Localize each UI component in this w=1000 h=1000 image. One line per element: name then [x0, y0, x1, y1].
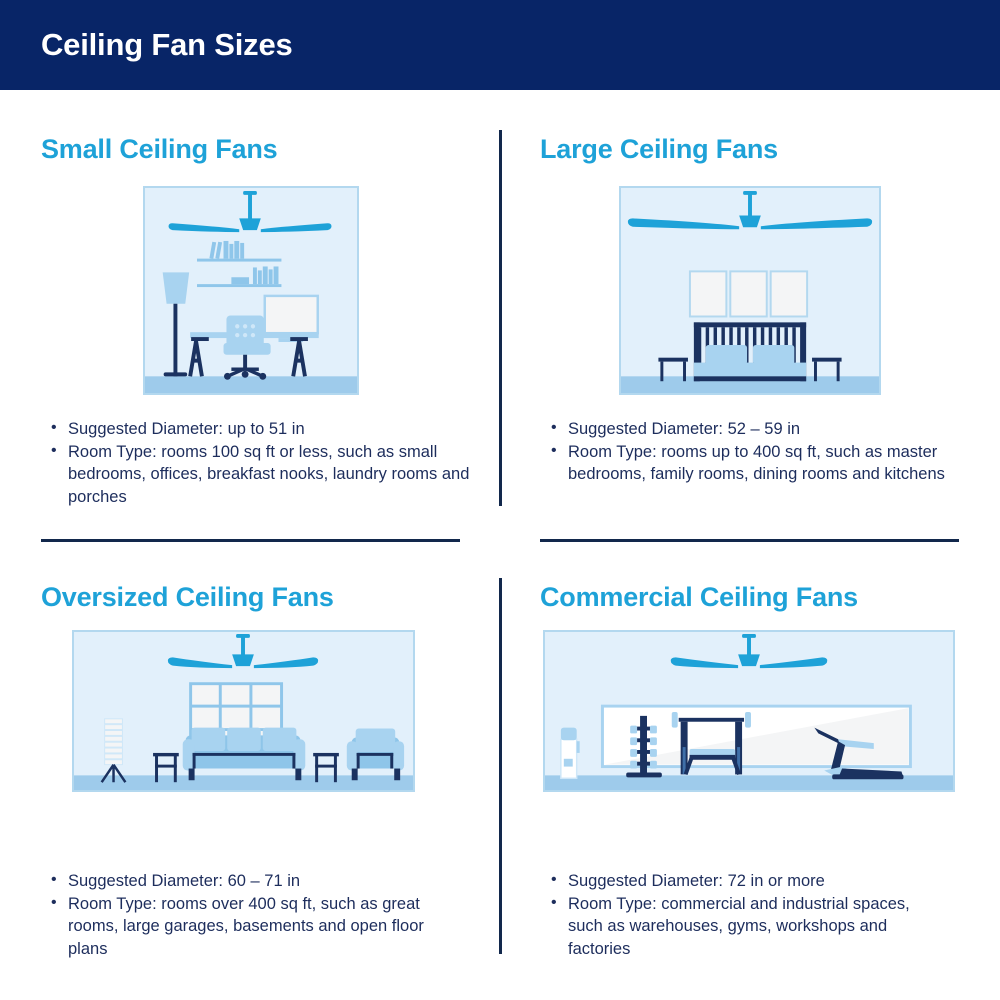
floor-lamp-icon	[163, 272, 190, 376]
ceiling-fan-icon	[671, 634, 827, 668]
bullet-list-small: Suggested Diameter: up to 51 in Room Typ…	[44, 418, 474, 508]
books-upper	[209, 241, 244, 259]
ceiling-fan-icon	[169, 191, 332, 232]
living-room-scene	[72, 630, 415, 792]
list-item: Room Type: rooms over 400 sq ft, such as…	[44, 893, 464, 961]
bullet-list-large: Suggested Diameter: 52 – 59 in Room Type…	[544, 418, 964, 486]
home-office-scene	[143, 186, 359, 395]
list-item: Suggested Diameter: 72 in or more	[544, 870, 944, 893]
bed-icon	[694, 322, 806, 381]
list-item: Room Type: rooms up to 400 sq ft, such a…	[544, 441, 964, 486]
bedroom-scene	[619, 186, 881, 395]
section-commercial: Commercial Ceiling Fans	[500, 540, 1000, 1000]
mirror-wall	[602, 706, 910, 766]
list-item: Suggested Diameter: 52 – 59 in	[544, 418, 964, 441]
list-item: Suggested Diameter: 60 – 71 in	[44, 870, 464, 893]
section-small: Small Ceiling Fans	[0, 0, 500, 540]
infographic-page: Ceiling Fan Sizes Small Ceiling Fans	[0, 0, 1000, 1000]
section-title-small: Small Ceiling Fans	[41, 134, 277, 165]
ceiling-fan-icon	[168, 634, 318, 668]
list-item: Room Type: commercial and industrial spa…	[544, 893, 944, 961]
tripod-lamp-icon	[102, 719, 126, 782]
water-cooler-icon	[561, 728, 580, 779]
section-title-commercial: Commercial Ceiling Fans	[540, 582, 858, 613]
section-title-oversized: Oversized Ceiling Fans	[41, 582, 334, 613]
sofa-icon	[183, 728, 306, 781]
armchair-icon	[347, 729, 404, 781]
gym-scene	[543, 630, 955, 792]
section-oversized: Oversized Ceiling Fans	[0, 540, 500, 1000]
list-item: Room Type: rooms 100 sq ft or less, such…	[44, 441, 474, 509]
office-chair-icon	[224, 316, 271, 380]
list-item: Suggested Diameter: up to 51 in	[44, 418, 474, 441]
section-title-large: Large Ceiling Fans	[540, 134, 778, 165]
books-lower	[231, 266, 278, 284]
bullet-list-commercial: Suggested Diameter: 72 in or more Room T…	[544, 870, 944, 960]
wall-art-frames	[690, 271, 807, 316]
ceiling-fan-icon	[628, 191, 872, 229]
bullet-list-oversized: Suggested Diameter: 60 – 71 in Room Type…	[44, 870, 464, 960]
section-large: Large Ceiling Fans	[500, 0, 1000, 540]
